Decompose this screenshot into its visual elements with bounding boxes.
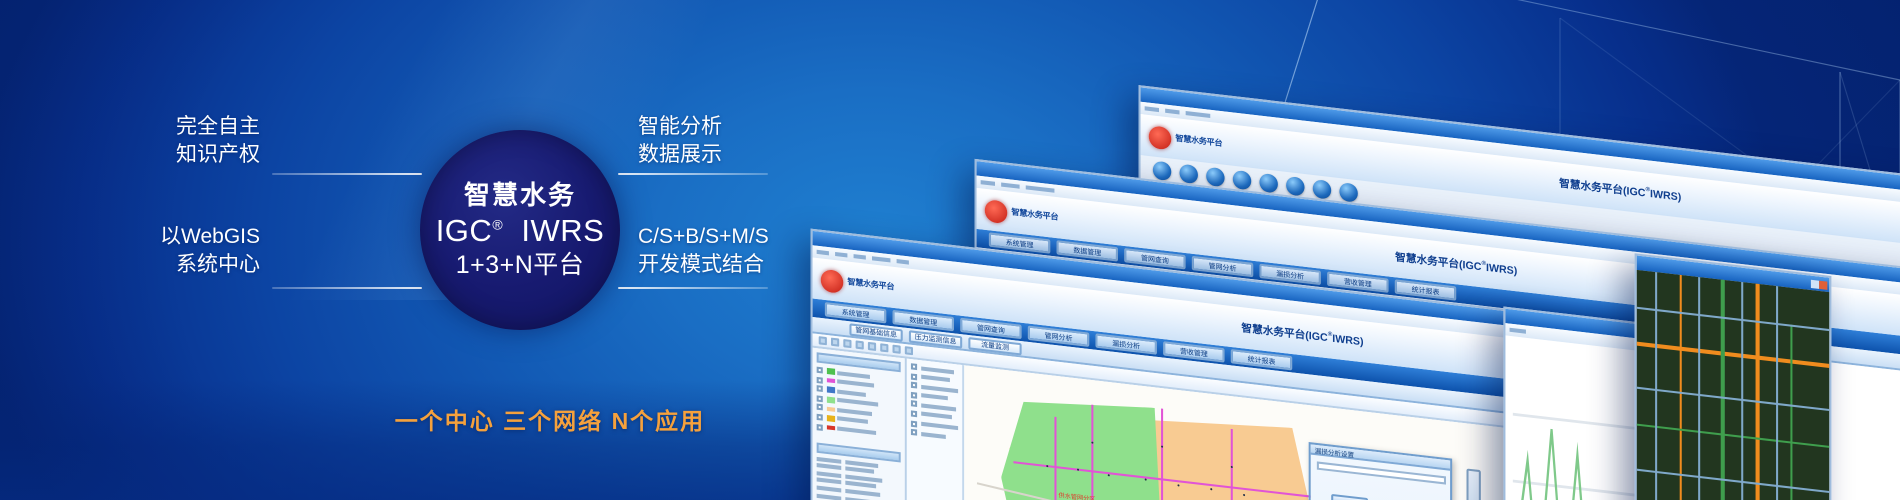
menu-item-edit[interactable]	[1001, 182, 1019, 188]
app-title-suffix: IWRS)	[1332, 334, 1363, 350]
ribbon-icon-5[interactable]	[1259, 173, 1277, 194]
map-pipe	[1161, 409, 1163, 500]
expander-icon[interactable]	[911, 420, 917, 427]
tree-node[interactable]	[911, 429, 958, 441]
connector-top-left	[272, 173, 422, 175]
checkbox-icon[interactable]	[817, 423, 823, 430]
hero-banner: 完全自主 知识产权 以WebGIS 系统中心 智能分析 数据展示 C/S+B/S…	[0, 0, 1900, 500]
tool-measure-icon[interactable]	[868, 342, 876, 351]
app-title-prefix: 智慧水务平台(IGC	[1241, 323, 1327, 345]
menu-item-view[interactable]	[1186, 111, 1211, 118]
expander-icon[interactable]	[911, 391, 917, 398]
connector-top-right	[618, 173, 768, 175]
screenshot-stack: 智慧水务平台 智慧水务平台(IGC®IWRS) 系统管理 数据管理 管网查询 管…	[790, 40, 1900, 460]
label-bottom-left-line1: 以WebGIS	[60, 223, 260, 251]
tool-pan-icon[interactable]	[819, 336, 827, 345]
hub-platform: 1+3+N平台	[456, 251, 585, 281]
ribbon-icon-6[interactable]	[1286, 176, 1304, 197]
analysis-dialog[interactable]: 漏损分析设置	[1309, 442, 1453, 500]
checkbox-icon[interactable]	[817, 367, 823, 374]
tool-select-icon[interactable]	[856, 340, 864, 349]
label-top-left-line2: 知识产权	[60, 141, 260, 169]
tool-zoom-out-icon[interactable]	[843, 339, 851, 348]
water-drop-logo-icon	[821, 268, 844, 293]
label-top-left: 完全自主 知识产权	[60, 113, 260, 168]
registered-mark-icon: ®	[492, 217, 503, 233]
label-bottom-left-line2: 系统中心	[60, 251, 260, 279]
menu-item-help[interactable]	[897, 259, 909, 265]
tool-layers-icon[interactable]	[905, 346, 913, 355]
menu-item-tools[interactable]	[1026, 185, 1055, 192]
expander-icon[interactable]	[911, 363, 917, 370]
menu-item-tools[interactable]	[872, 256, 890, 262]
ribbon-icon-3[interactable]	[1206, 167, 1224, 188]
app-title-suffix: IWRS)	[1650, 189, 1681, 205]
ribbon-icon-7[interactable]	[1313, 179, 1331, 200]
checkbox-icon[interactable]	[817, 414, 823, 421]
menu-item-file[interactable]	[1145, 106, 1159, 112]
map-pipe	[1091, 405, 1093, 500]
hub-product-suffix: IWRS	[521, 213, 604, 248]
app-window-aerial[interactable]	[1635, 253, 1832, 500]
menu-item-file[interactable]	[1510, 328, 1526, 334]
app-title-suffix: IWRS)	[1486, 263, 1517, 279]
app-title-front: 智慧水务平台(IGC®IWRS)	[1241, 320, 1363, 350]
hub-product-prefix: IGC	[436, 213, 493, 248]
app-title-mid: 智慧水务平台(IGC®IWRS)	[1395, 249, 1517, 279]
menu-item-view[interactable]	[854, 254, 866, 260]
tool-zoom-in-icon[interactable]	[831, 338, 839, 347]
map-zone-green	[1001, 390, 1161, 500]
tagline: 一个中心 三个网络 N个应用	[240, 402, 860, 436]
layer-toc-panel[interactable]	[813, 348, 907, 500]
ribbon-icon-8[interactable]	[1339, 182, 1357, 203]
tool-identify-icon[interactable]	[880, 343, 888, 352]
menu-item-edit[interactable]	[835, 252, 847, 258]
menu-item-edit[interactable]	[1165, 109, 1179, 115]
tool-print-icon[interactable]	[893, 345, 901, 354]
brand-logo-text: 智慧水务平台	[847, 276, 894, 294]
checkbox-icon[interactable]	[817, 404, 823, 411]
hub-product-name: IGC® IWRS	[436, 213, 605, 250]
map-navigation-control[interactable]	[1462, 468, 1485, 500]
expander-icon[interactable]	[911, 401, 917, 408]
app-title-back: 智慧水务平台(IGC®IWRS)	[1559, 175, 1681, 205]
menu-item-file[interactable]	[817, 250, 829, 256]
app-title-prefix: 智慧水务平台(IGC	[1395, 252, 1481, 274]
checkbox-icon[interactable]	[817, 376, 823, 383]
connector-bottom-right	[618, 287, 768, 289]
checkbox-icon[interactable]	[817, 395, 823, 402]
dialog-ok-button[interactable]	[1331, 493, 1368, 500]
zoom-slider[interactable]	[1467, 469, 1481, 500]
expander-icon[interactable]	[911, 429, 917, 436]
layer-tree-panel[interactable]	[907, 359, 964, 500]
ribbon-icon-4[interactable]	[1233, 170, 1251, 191]
ribbon-icon-1[interactable]	[1153, 161, 1171, 182]
map-pipe	[1231, 429, 1233, 500]
central-hub-circle: 智慧水务 IGC® IWRS 1+3+N平台	[420, 130, 620, 330]
connector-bottom-left	[272, 287, 422, 289]
expander-icon[interactable]	[911, 382, 917, 389]
aerial-map-canvas[interactable]	[1637, 270, 1830, 500]
ribbon-icon-2[interactable]	[1180, 164, 1198, 185]
label-bottom-left: 以WebGIS 系统中心	[60, 223, 260, 278]
brand-logo-text: 智慧水务平台	[1175, 132, 1222, 150]
expander-icon[interactable]	[911, 373, 917, 380]
hub-title: 智慧水务	[464, 180, 576, 211]
concept-diagram: 完全自主 知识产权 以WebGIS 系统中心 智能分析 数据展示 C/S+B/S…	[240, 95, 860, 385]
app-title-prefix: 智慧水务平台(IGC	[1559, 179, 1645, 201]
expander-icon[interactable]	[911, 410, 917, 417]
water-drop-logo-icon	[985, 198, 1008, 223]
minimize-icon[interactable]	[1810, 279, 1818, 288]
map-pipe	[1054, 417, 1056, 500]
brand-logo-text: 智慧水务平台	[1011, 206, 1058, 224]
label-top-left-line1: 完全自主	[60, 113, 260, 141]
water-drop-logo-icon	[1149, 124, 1172, 149]
menu-item-file[interactable]	[981, 180, 995, 186]
close-icon[interactable]	[1819, 280, 1827, 289]
checkbox-icon[interactable]	[817, 385, 823, 392]
